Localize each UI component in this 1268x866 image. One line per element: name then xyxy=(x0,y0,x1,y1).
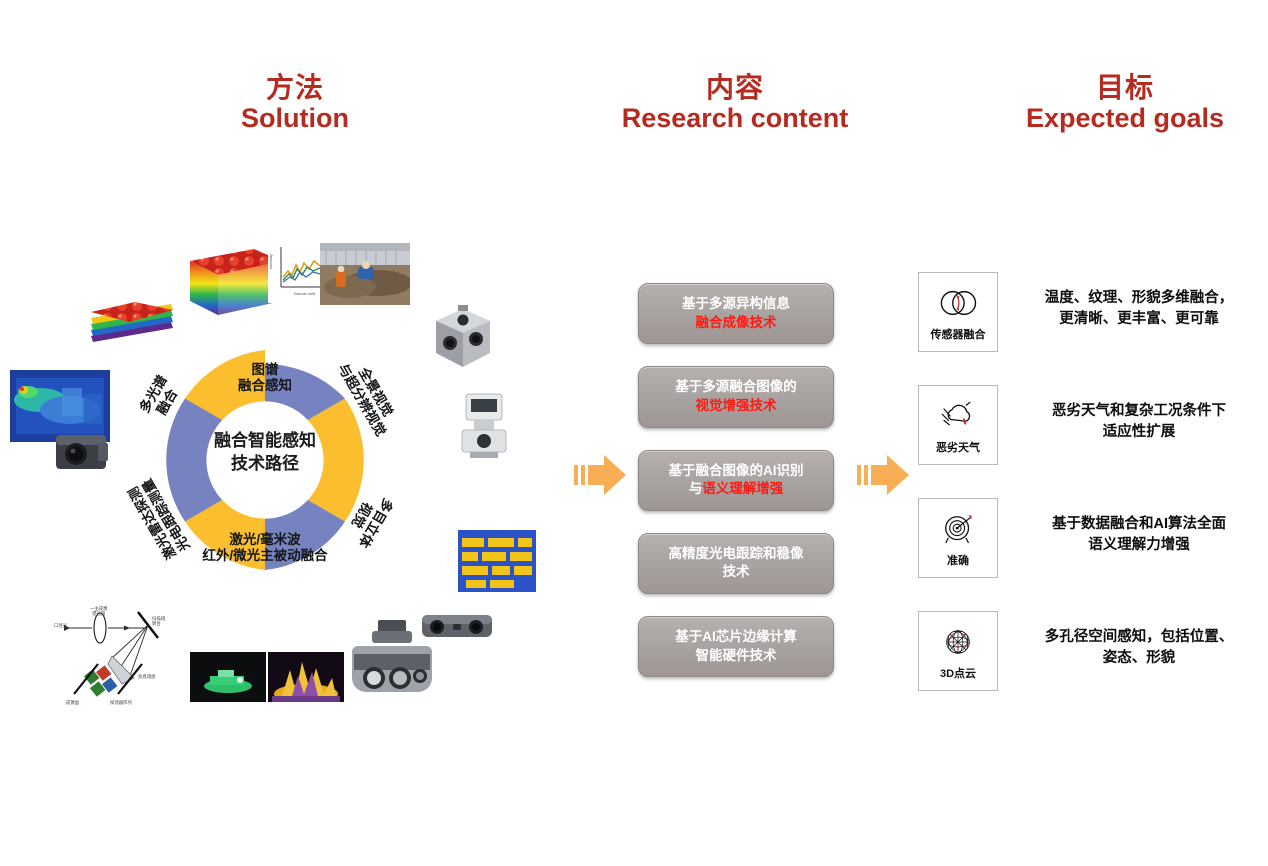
research-box-5-line2: 智能硬件技术 xyxy=(647,647,825,666)
research-box-2-line1: 基于多源融合图像的 xyxy=(647,378,825,397)
research-box-1-line1: 基于多源异构信息 xyxy=(647,295,825,314)
arrow-content-to-goals xyxy=(855,452,911,503)
research-box-5[interactable]: 基于AI芯片边缘计算 智能硬件技术 xyxy=(638,616,834,677)
svg-text:成像面: 成像面 xyxy=(66,699,80,706)
goal-text-accuracy: 基于数据融合和AI算法全面 语义理解力增强 xyxy=(1014,514,1264,555)
panoramic-multi-camera-thumb xyxy=(428,305,498,378)
research-box-3-line2: 与语义理解增强 xyxy=(647,480,825,499)
goal-text-point-cloud: 多孔径空间感知，包括位置、 姿态、形貌 xyxy=(1014,627,1264,668)
svg-text:口径光: 口径光 xyxy=(54,622,68,629)
research-box-1[interactable]: 基于多源异构信息 融合成像技术 xyxy=(638,283,834,344)
research-box-2-line2: 视觉增强技术 xyxy=(647,397,825,416)
svg-text:Raman shift: Raman shift xyxy=(294,291,316,296)
spectral-curve-chart-thumb: Intensity Raman shift xyxy=(268,241,328,308)
goal-text-severe-weather: 恶劣天气和复杂工况条件下 适应性扩展 xyxy=(1014,401,1264,442)
arrow-solution-to-content xyxy=(572,452,628,503)
stereo-depth-map-thumb xyxy=(458,530,536,597)
donut-segment-label-0: 图谱 融合感知 xyxy=(190,362,340,395)
goal-card-point-cloud[interactable]: 3D点云 xyxy=(918,611,998,691)
donut-center-text: 融合智能感知 技术路径 xyxy=(165,430,365,476)
point-cloud-icon xyxy=(937,622,979,662)
research-box-4[interactable]: 高精度光电跟踪和稳像 技术 xyxy=(638,533,834,594)
goal-card-severe-weather[interactable]: 恶劣天气 xyxy=(918,385,998,465)
night-vision-frame-thumb xyxy=(190,652,266,707)
research-box-4-line2: 技术 xyxy=(647,563,825,582)
technology-roadmap-donut: 图谱 融合感知 全景视觉 与超分辨视觉 多目立体 视觉 激光/毫米波 红外/微光… xyxy=(105,300,425,620)
research-box-5-line1: 基于AI芯片边缘计算 xyxy=(647,628,825,647)
svg-text:转台: 转台 xyxy=(152,620,161,627)
goal-label-point-cloud: 3D点云 xyxy=(940,665,976,681)
column-heading-solution: 方法 Solution xyxy=(170,72,420,134)
research-box-3-line1: 基于融合图像的AI识别 xyxy=(647,462,825,481)
severe-weather-icon xyxy=(937,396,979,436)
goal-label-sensor-fusion: 传感器融合 xyxy=(931,326,986,342)
goal-label-accuracy: 准确 xyxy=(947,552,969,568)
goal-label-severe-weather: 恶劣天气 xyxy=(936,439,980,455)
research-box-3-line2-highlight: 语义理解增强 xyxy=(702,481,783,496)
research-box-2[interactable]: 基于多源融合图像的 视觉增强技术 xyxy=(638,366,834,427)
svg-text:探测器阵列: 探测器阵列 xyxy=(110,699,133,706)
goal-text-sensor-fusion: 温度、纹理、形貌多维融合， 更清晰、更丰富、更可靠 xyxy=(1014,288,1264,329)
research-box-4-line1: 高精度光电跟踪和稳像 xyxy=(647,545,825,564)
svg-text:望远镜: 望远镜 xyxy=(92,610,106,617)
research-box-3[interactable]: 基于融合图像的AI识别 与语义理解增强 xyxy=(638,450,834,511)
svg-text:准直镜组: 准直镜组 xyxy=(138,673,156,680)
column-heading-content: 内容 Research content xyxy=(595,72,875,134)
gimbal-eo-turret-thumb xyxy=(348,620,436,709)
heading-cn-goals: 目标 xyxy=(1000,72,1250,103)
goal-card-accuracy[interactable]: 准确 xyxy=(918,498,998,578)
target-accuracy-icon xyxy=(937,509,979,549)
svg-text:Intensity: Intensity xyxy=(268,254,273,269)
sensor-fusion-icon xyxy=(937,283,979,323)
column-heading-goals: 目标 Expected goals xyxy=(1000,72,1250,134)
heading-en-goals: Expected goals xyxy=(1000,103,1250,133)
research-content-column: 基于多源异构信息 融合成像技术 基于多源融合图像的 视觉增强技术 基于融合图像的… xyxy=(638,283,834,699)
research-box-1-line2: 融合成像技术 xyxy=(647,314,825,333)
heading-en-solution: Solution xyxy=(170,103,420,133)
optical-sensor-device-thumb xyxy=(456,390,512,467)
heading-cn-solution: 方法 xyxy=(170,72,420,103)
goal-card-sensor-fusion[interactable]: 传感器融合 xyxy=(918,272,998,352)
research-box-3-line2-prefix: 与 xyxy=(689,481,703,496)
heading-cn-content: 内容 xyxy=(595,72,875,103)
thermal-target-frame-thumb xyxy=(268,652,344,707)
heading-en-content: Research content xyxy=(595,103,875,133)
